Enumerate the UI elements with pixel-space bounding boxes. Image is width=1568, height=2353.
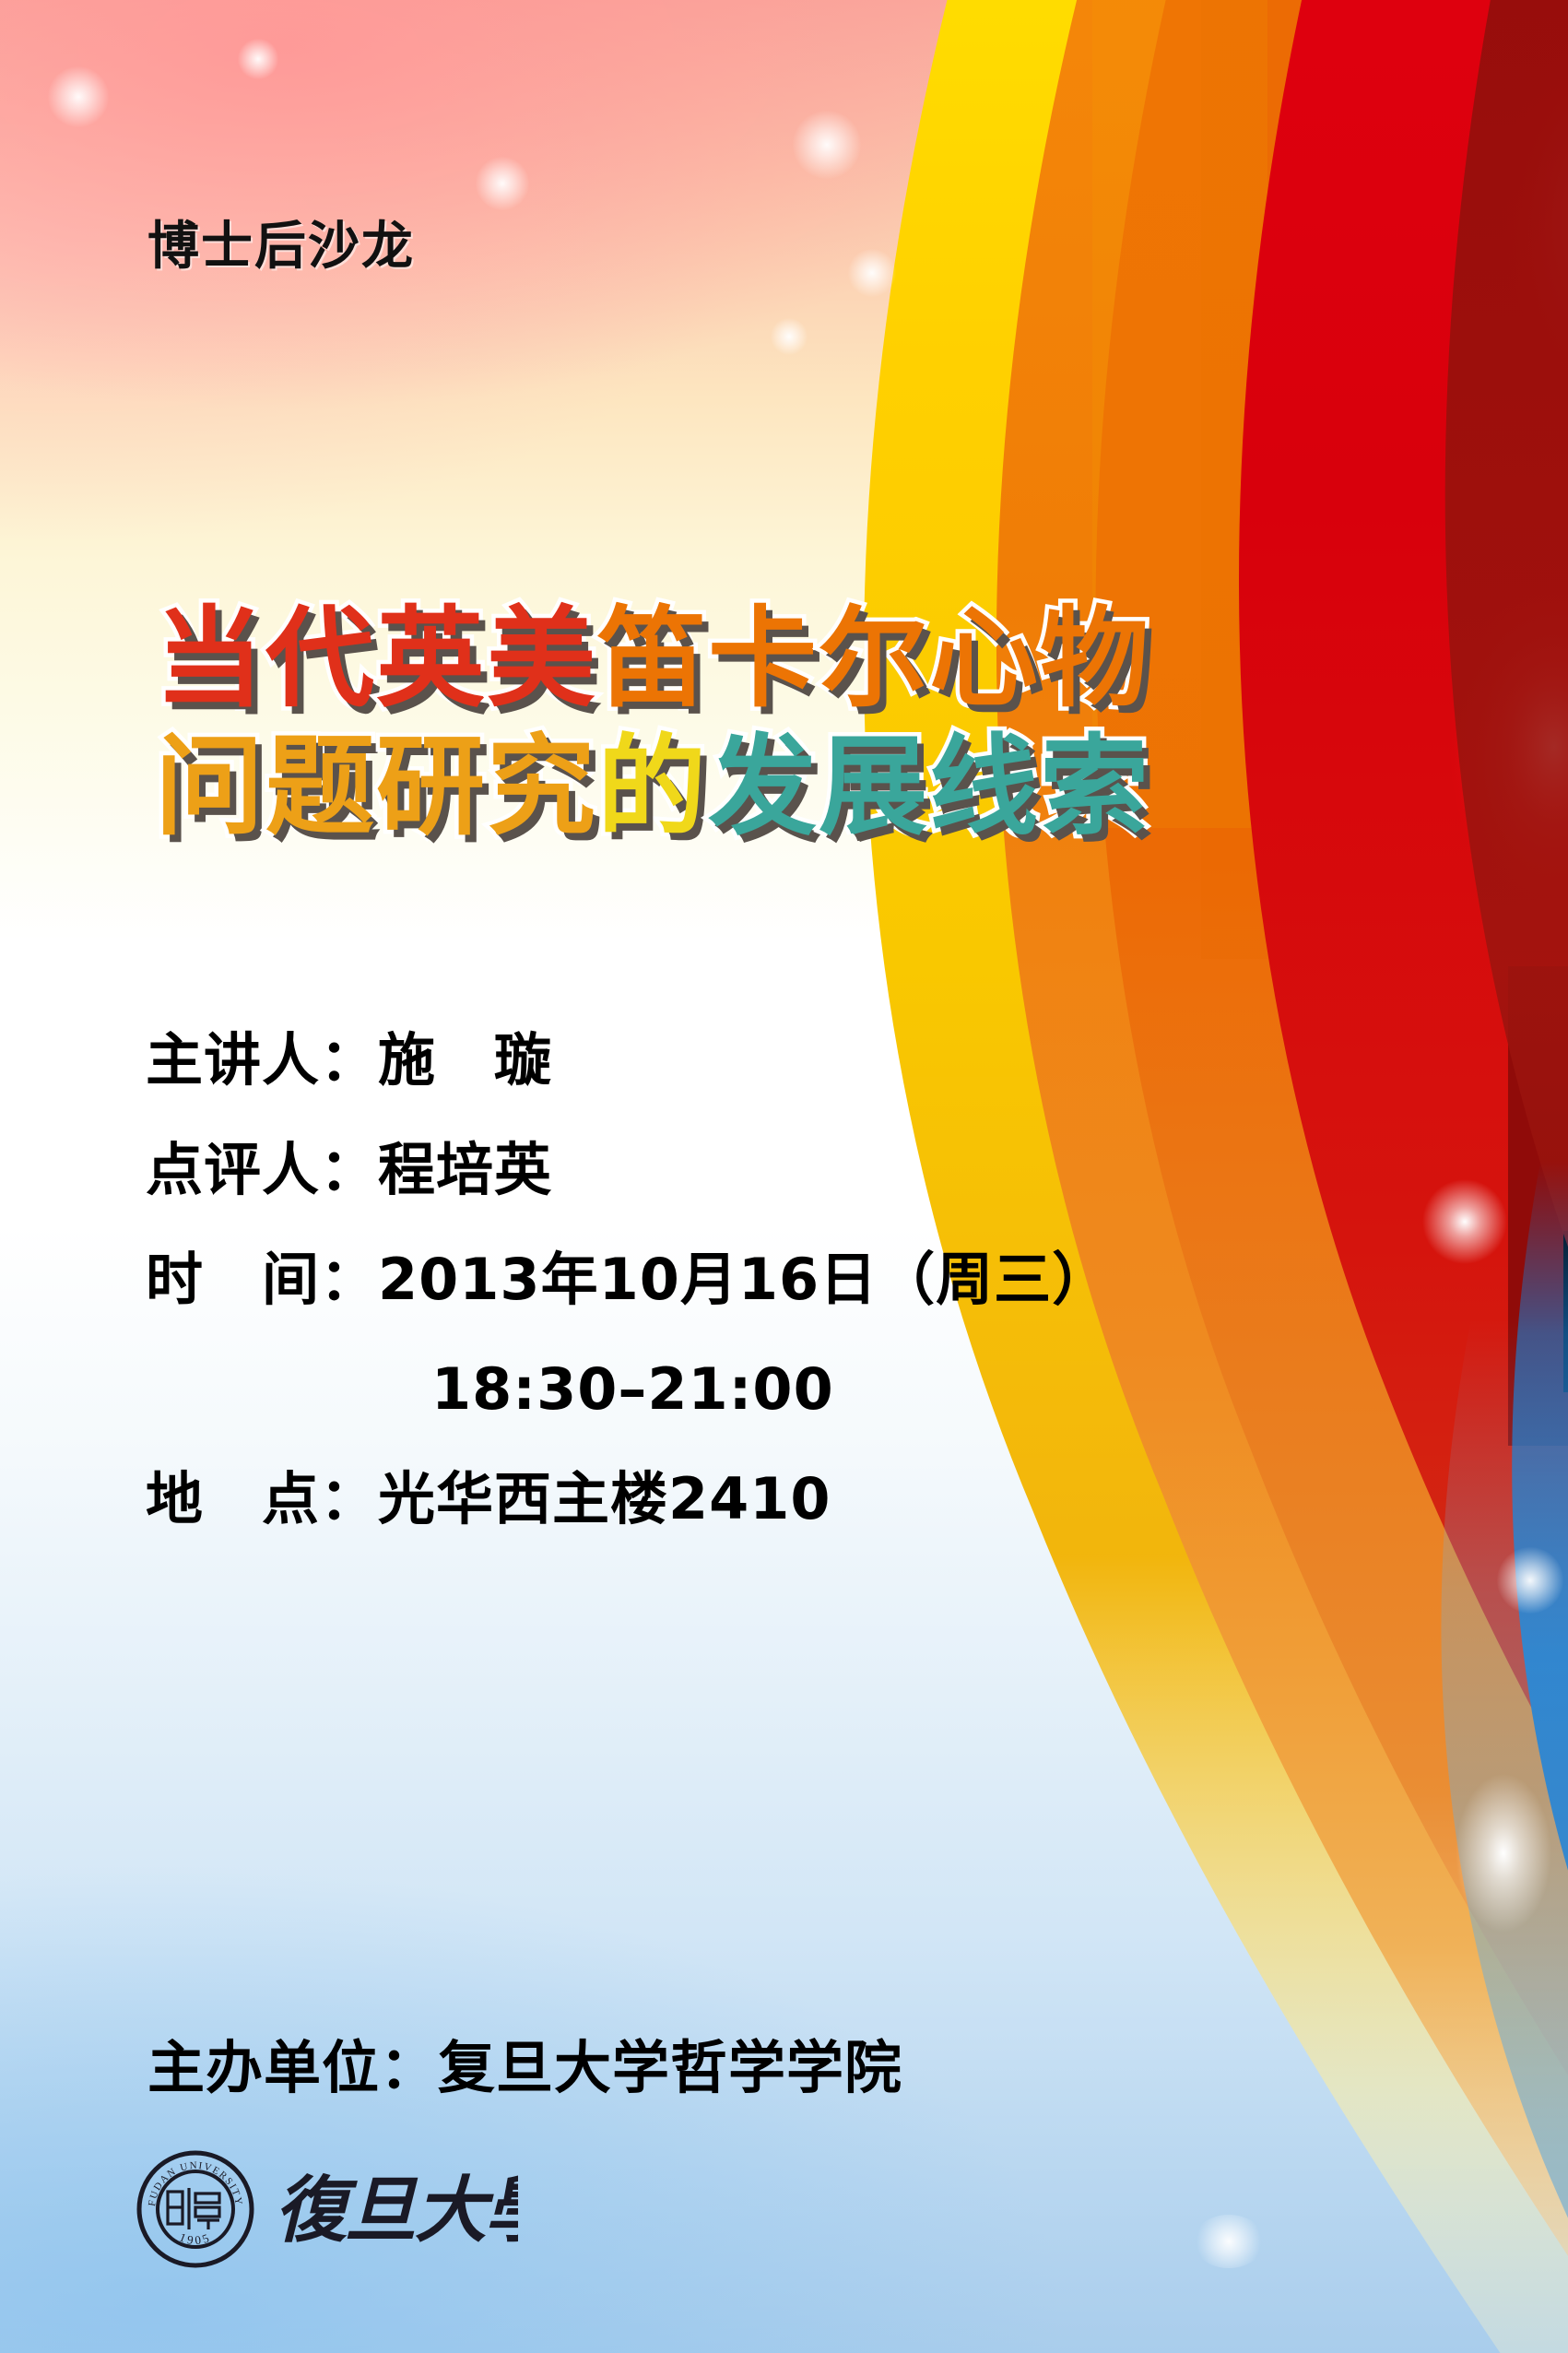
detail-value: 2013年10月16日（周三） — [378, 1246, 1110, 1313]
fudan-seal-icon: FUDAN UNIVERSITY 1905 — [136, 2150, 254, 2268]
title-char: 当 — [155, 595, 265, 723]
title-char: 究 — [487, 723, 597, 851]
detail-label: 主讲人： — [146, 1026, 378, 1094]
title-char: 心 — [929, 595, 1040, 723]
fudan-wordmark: 復旦大學 — [271, 2158, 518, 2261]
title-char: 卡 — [708, 595, 819, 723]
title-char: 的 — [597, 723, 708, 851]
fudan-logo: FUDAN UNIVERSITY 1905 復旦大學 — [136, 2150, 518, 2268]
detail-label: 地 点： — [146, 1465, 378, 1532]
title-char: 研 — [376, 723, 487, 851]
organizer-line: 主办单位：复旦大学哲学学院 — [147, 2021, 902, 2104]
detail-label: 点评人： — [146, 1136, 378, 1203]
title-char: 发 — [708, 723, 819, 851]
title-line-1: 当代英美笛卡尔心物 — [155, 595, 1261, 723]
detail-row: 主讲人：施 璇 — [146, 1005, 1110, 1115]
svg-text:復旦大學: 復旦大學 — [275, 2170, 518, 2252]
poster-kicker: 博士后沙龙 — [147, 205, 415, 279]
detail-row: 地 点：光华西主楼2410 — [146, 1444, 1110, 1554]
title-char: 英 — [376, 595, 487, 723]
title-char: 索 — [1040, 723, 1150, 851]
detail-row: 时 间：2013年10月16日（周三） — [146, 1224, 1110, 1334]
detail-row: 点评人：程培英 — [146, 1115, 1110, 1224]
svg-text:1905: 1905 — [178, 2229, 214, 2247]
title-char: 展 — [819, 723, 929, 851]
detail-label: 时 间： — [146, 1246, 378, 1313]
title-char: 尔 — [819, 595, 929, 723]
detail-value: 程培英 — [378, 1136, 552, 1203]
detail-value: 18:30–21:00 — [431, 1355, 834, 1423]
title-char: 美 — [487, 595, 597, 723]
poster-title: 当代英美笛卡尔心物 问题研究的发展线索 — [155, 595, 1261, 851]
title-char: 物 — [1040, 595, 1150, 723]
title-char: 笛 — [597, 595, 708, 723]
title-line-2: 问题研究的发展线索 — [155, 723, 1261, 851]
detail-value: 施 璇 — [378, 1026, 552, 1094]
title-char: 线 — [929, 723, 1040, 851]
title-char: 问 — [155, 723, 265, 851]
title-char: 题 — [265, 723, 376, 851]
poster-canvas: 博士后沙龙 当代英美笛卡尔心物 问题研究的发展线索 主讲人：施 璇点评人：程培英… — [0, 0, 1568, 2353]
event-details: 主讲人：施 璇点评人：程培英时 间：2013年10月16日（周三）18:30–2… — [146, 1005, 1110, 1554]
title-char: 代 — [265, 595, 376, 723]
detail-value: 光华西主楼2410 — [378, 1465, 831, 1532]
detail-row: 18:30–21:00 — [146, 1334, 1110, 1444]
